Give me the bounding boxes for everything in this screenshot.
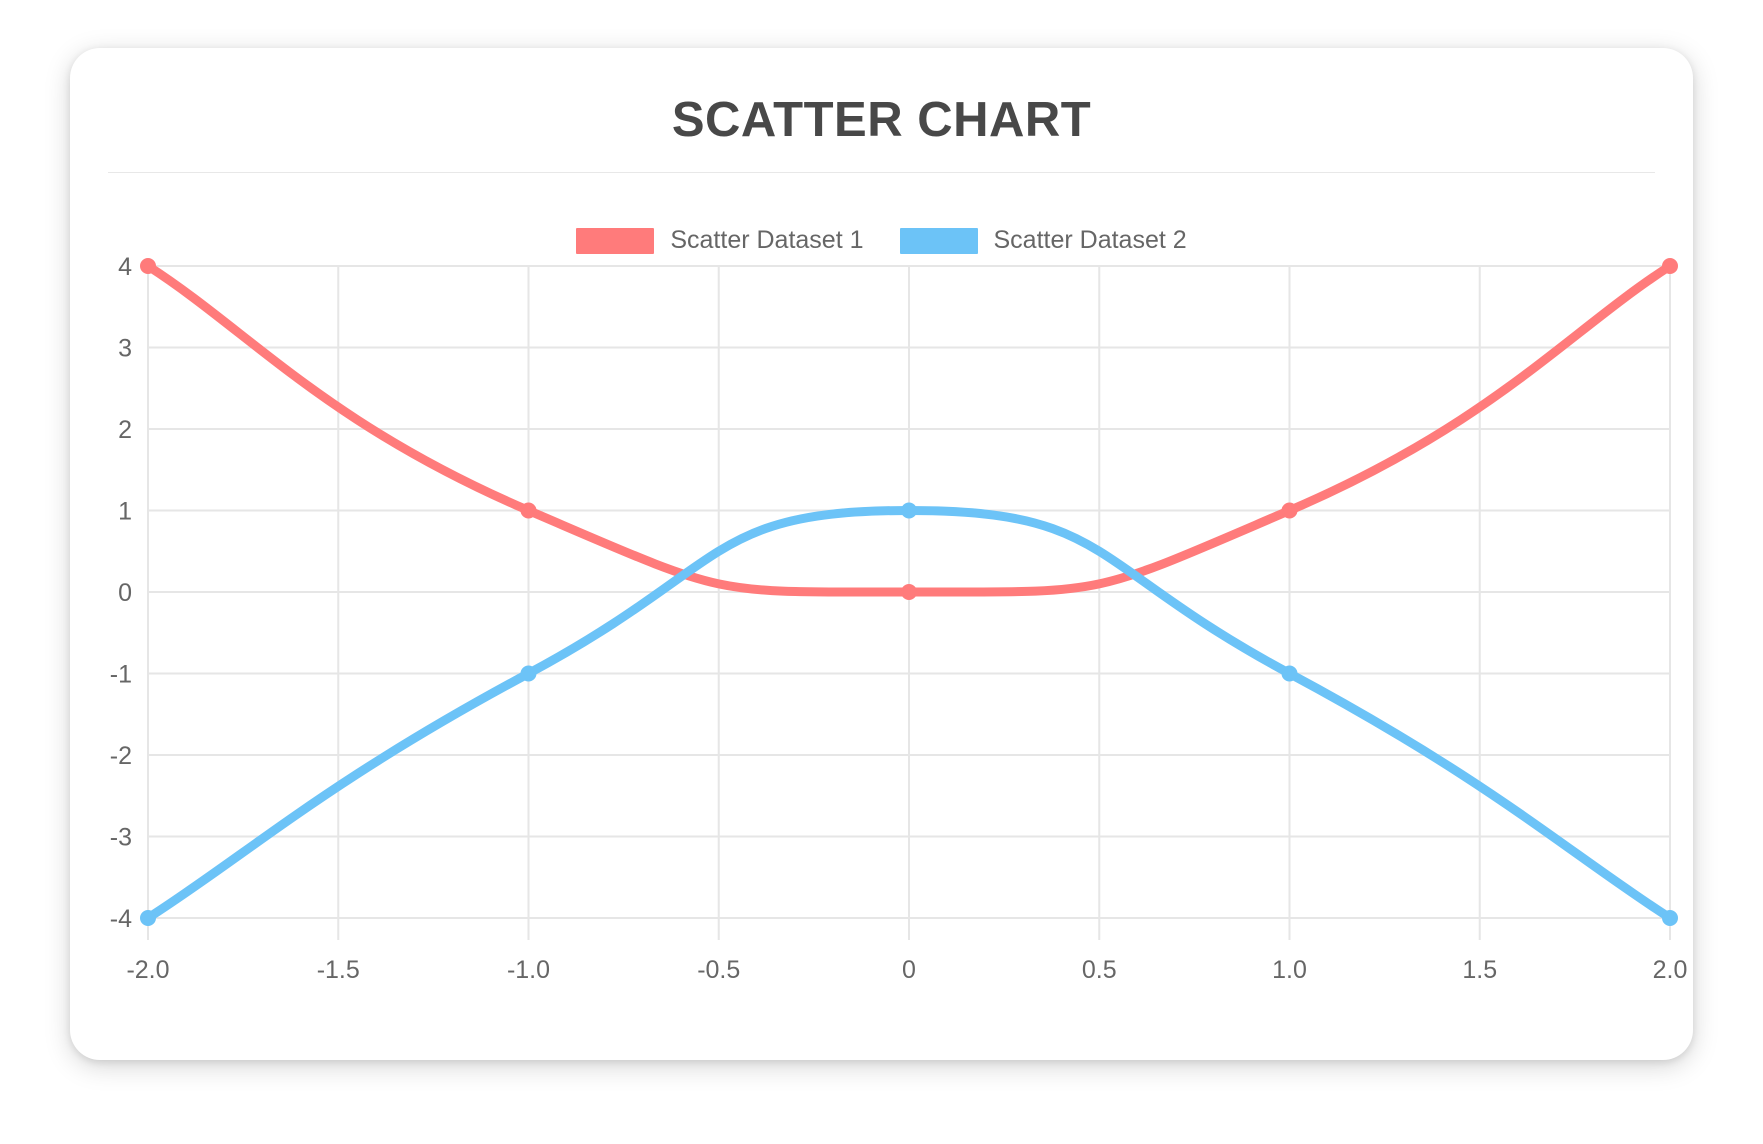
y-tick-label: -1 [110,661,132,689]
data-point[interactable] [522,667,536,681]
x-tick-label: 2.0 [1653,956,1688,984]
x-tick-label: 1.0 [1272,956,1307,984]
grid-lines [148,266,1670,940]
x-tick-label: 0 [902,956,916,984]
plot-svg: -2.0-1.5-1.0-0.500.51.01.52.0 43210-1-2-… [70,48,1693,1060]
plot-area: -2.0-1.5-1.0-0.500.51.01.52.0 43210-1-2-… [70,48,1693,1060]
y-tick-label: 4 [118,253,132,281]
data-point[interactable] [1283,504,1297,518]
x-axis-labels: -2.0-1.5-1.0-0.500.51.01.52.0 [126,956,1687,984]
y-tick-label: 2 [118,416,132,444]
data-point[interactable] [1663,911,1677,925]
data-point[interactable] [141,259,155,273]
y-tick-label: -4 [110,905,132,933]
x-tick-label: 0.5 [1082,956,1117,984]
y-tick-label: -2 [110,742,132,770]
data-point[interactable] [141,911,155,925]
data-point[interactable] [902,504,916,518]
y-tick-label: 3 [118,335,132,363]
y-tick-label: 0 [118,579,132,607]
x-tick-label: -1.5 [317,956,360,984]
x-tick-label: -2.0 [126,956,169,984]
page-root: SCATTER CHART Scatter Dataset 1 Scatter … [0,0,1763,1144]
data-point[interactable] [902,585,916,599]
y-axis-labels: 43210-1-2-3-4 [110,253,132,933]
y-tick-label: -3 [110,824,132,852]
x-tick-label: -0.5 [697,956,740,984]
x-tick-label: 1.5 [1462,956,1497,984]
y-tick-label: 1 [118,498,132,526]
data-point[interactable] [522,504,536,518]
data-point[interactable] [1283,667,1297,681]
chart-card: SCATTER CHART Scatter Dataset 1 Scatter … [70,48,1693,1060]
x-tick-label: -1.0 [507,956,550,984]
data-point[interactable] [1663,259,1677,273]
